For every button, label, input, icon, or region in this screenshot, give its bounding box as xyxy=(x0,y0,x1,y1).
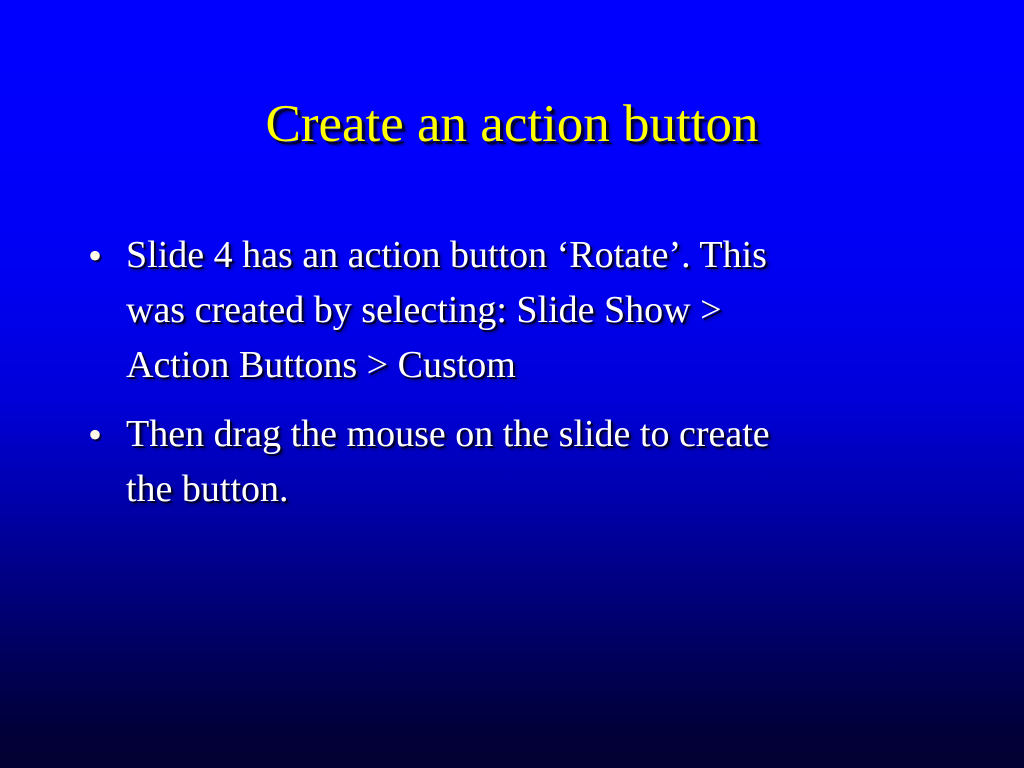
bullet-line: was created by selecting: Slide Show > xyxy=(126,283,956,338)
slide-body-content: • Slide 4 has an action button ‘Rotate’.… xyxy=(76,228,956,517)
bullet-line: Action Buttons > Custom xyxy=(126,338,956,393)
slide-title-container: Create an action button xyxy=(0,96,1024,153)
bullet-line: Then drag the mouse on the slide to crea… xyxy=(126,407,956,462)
presentation-slide: Create an action button • Slide 4 has an… xyxy=(0,0,1024,768)
bullet-text-block: Then drag the mouse on the slide to crea… xyxy=(126,407,956,517)
bullet-line: the button. xyxy=(126,462,956,517)
bullet-point-icon: • xyxy=(76,228,126,283)
bullet-text-block: Slide 4 has an action button ‘Rotate’. T… xyxy=(126,228,956,393)
list-item: • Slide 4 has an action button ‘Rotate’.… xyxy=(76,228,956,393)
bullet-line: Slide 4 has an action button ‘Rotate’. T… xyxy=(126,228,956,283)
page-title: Create an action button xyxy=(265,96,758,153)
bullet-point-icon: • xyxy=(76,407,126,462)
list-item: • Then drag the mouse on the slide to cr… xyxy=(76,407,956,517)
